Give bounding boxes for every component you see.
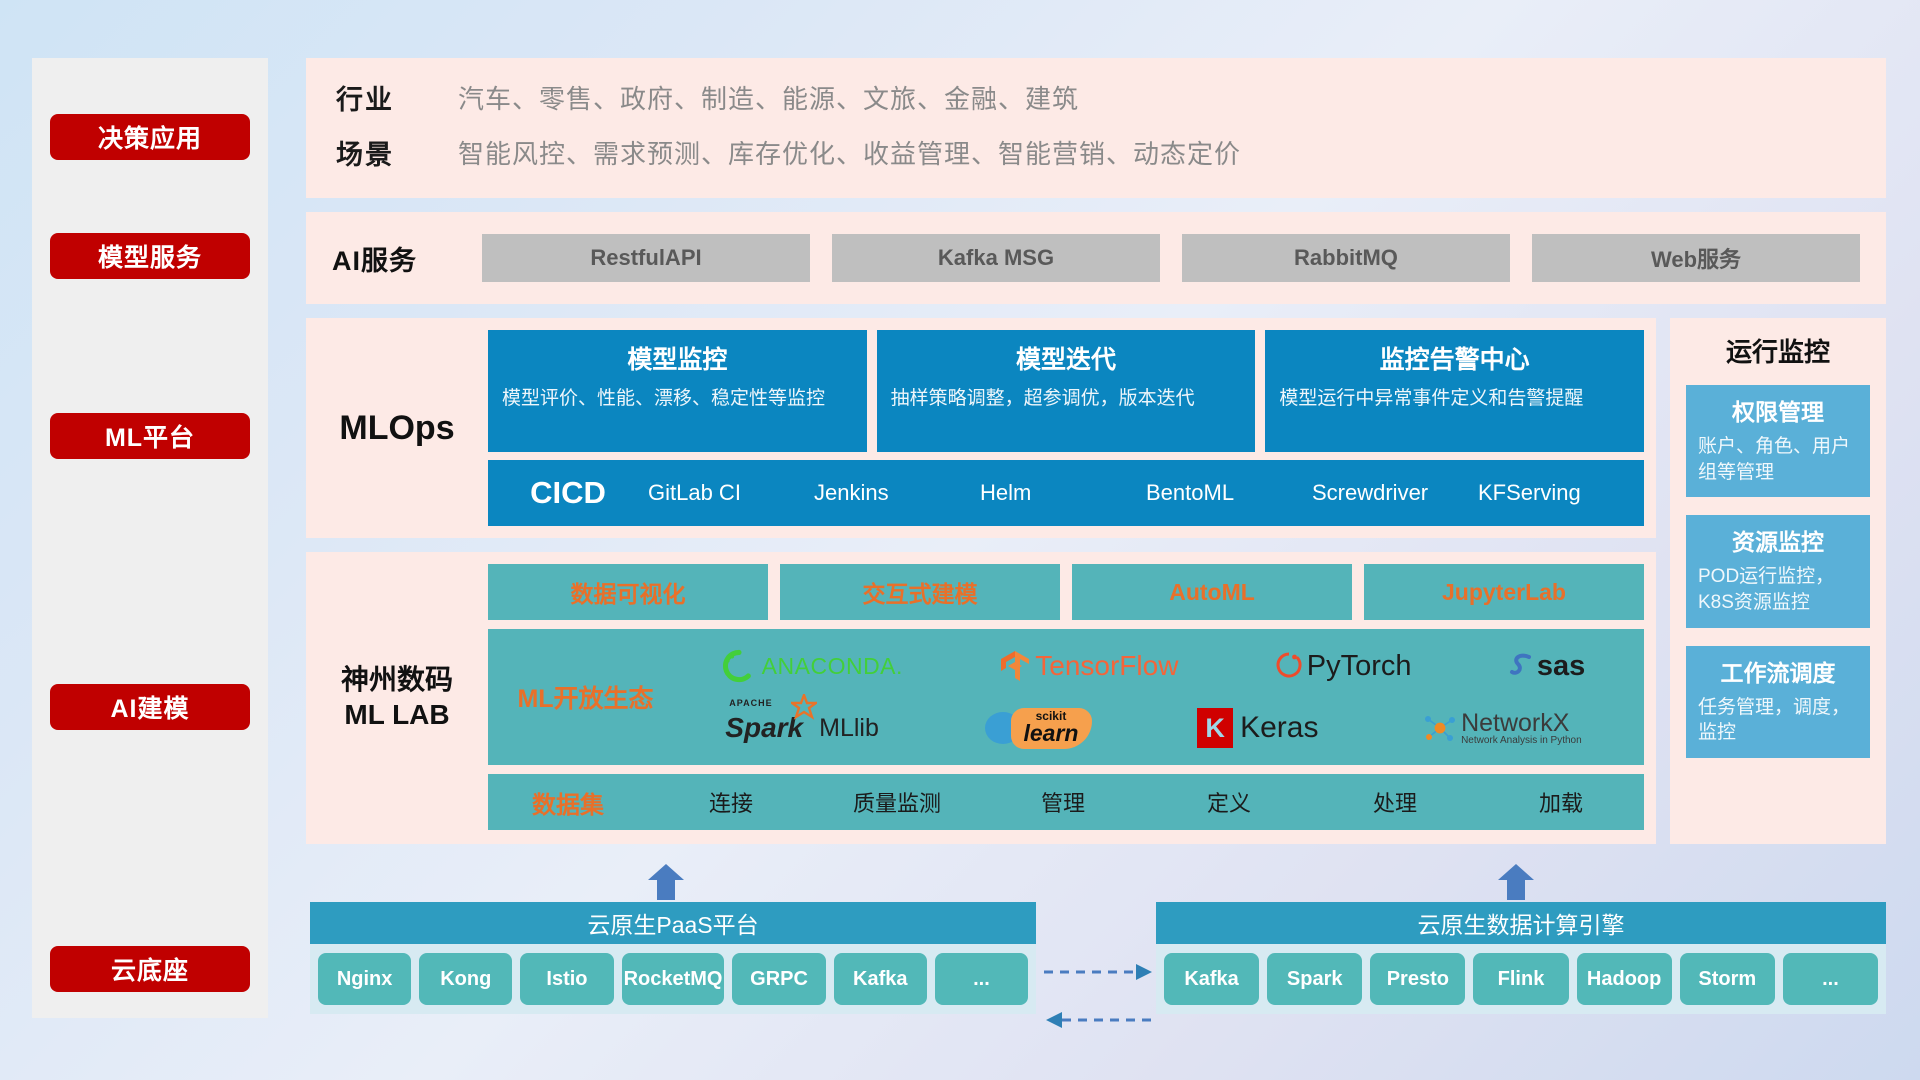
- tensorflow-icon: [1000, 649, 1030, 683]
- keras-letter: K: [1205, 713, 1225, 744]
- ai-service-title: AI服务: [332, 239, 482, 278]
- sas-icon: [1509, 651, 1535, 681]
- scenario-value: 智能风控、需求预测、库存优化、收益管理、智能营销、动态定价: [458, 134, 1241, 171]
- platform-left-stack: MLOps 模型监控 模型评价、性能、漂移、稳定性等监控 模型迭代 抽样策略调整…: [306, 318, 1656, 844]
- rail-label: 决策应用: [98, 119, 202, 155]
- card-title: 模型监控: [502, 340, 853, 376]
- cloud-native-data-engine-block: 云原生数据计算引擎 Kafka Spark Presto Flink Hadoo…: [1156, 902, 1886, 1014]
- data-engine-chips: Kafka Spark Presto Flink Hadoop Storm ..…: [1156, 944, 1886, 1014]
- rail-item-model-service[interactable]: 模型服务: [50, 233, 250, 279]
- engine-chip-storm[interactable]: Storm: [1680, 953, 1775, 1005]
- monitor-card-permission[interactable]: 权限管理 账户、角色、用户组等管理: [1686, 385, 1870, 497]
- scenario-key: 场景: [336, 133, 458, 172]
- tool-data-visualization[interactable]: 数据可视化: [488, 564, 768, 620]
- rail-item-ai-modeling[interactable]: AI建模: [50, 684, 250, 730]
- mllib-text: MLlib: [819, 714, 879, 743]
- paas-chip-kafka[interactable]: Kafka: [834, 953, 927, 1005]
- rail-label: 模型服务: [98, 238, 202, 274]
- dataset-item-connect[interactable]: 连接: [648, 786, 814, 818]
- keras-mark-icon: K: [1197, 708, 1233, 748]
- ai-service-restfulapi[interactable]: RestfulAPI: [482, 234, 810, 282]
- pytorch-icon: [1276, 650, 1302, 682]
- modeling-tools-row: 数据可视化 交互式建模 AutoML JupyterLab: [488, 564, 1644, 620]
- runtime-monitor-title: 运行监控: [1686, 332, 1870, 369]
- runtime-monitor-column: 运行监控 权限管理 账户、角色、用户组等管理 资源监控 POD运行监控，K8S资…: [1670, 318, 1886, 844]
- anaconda-wordmark: ANACONDA.: [762, 653, 903, 680]
- card-title: 工作流调度: [1698, 654, 1858, 688]
- card-title: 模型迭代: [891, 340, 1242, 376]
- paas-chip-more[interactable]: ...: [935, 953, 1028, 1005]
- card-desc: 模型评价、性能、漂移、稳定性等监控: [502, 386, 853, 412]
- paas-up-arrow-icon: [646, 864, 686, 900]
- cicd-item-kfserving[interactable]: KFServing: [1478, 480, 1644, 505]
- ai-service-items: RestfulAPI Kafka MSG RabbitMQ Web服务: [482, 234, 1860, 282]
- dataset-bar: 数据集 连接 质量监测 管理 定义 处理 加载: [488, 774, 1644, 830]
- paas-title: 云原生PaaS平台: [310, 902, 1036, 944]
- bidirectional-dashed-arrows: [1040, 952, 1158, 1042]
- keras-logo: K Keras: [1197, 708, 1318, 748]
- scikit-orange-blob: scikit learn: [1011, 708, 1092, 749]
- mlops-cards: 模型监控 模型评价、性能、漂移、稳定性等监控 模型迭代 抽样策略调整，超参调优，…: [488, 330, 1644, 452]
- dataset-item-quality-monitoring[interactable]: 质量监测: [814, 786, 980, 818]
- card-title: 权限管理: [1698, 393, 1858, 427]
- cicd-bar: CICD GitLab CI Jenkins Helm BentoML Scre…: [488, 460, 1644, 526]
- card-desc: 抽样策略调整，超参调优，版本迭代: [891, 386, 1242, 412]
- mlops-card-alert-center[interactable]: 监控告警中心 模型运行中异常事件定义和告警提醒: [1265, 330, 1644, 452]
- industry-value: 汽车、零售、政府、制造、能源、文旅、金融、建筑: [458, 79, 1079, 116]
- engine-chip-spark[interactable]: Spark: [1267, 953, 1362, 1005]
- pytorch-logo: PyTorch: [1276, 650, 1412, 683]
- layer-rail: 决策应用 模型服务 ML平台 AI建模 云底座: [32, 58, 268, 1018]
- mlops-card-model-monitoring[interactable]: 模型监控 模型评价、性能、漂移、稳定性等监控: [488, 330, 867, 452]
- spark-apache-text: APACHE: [729, 698, 772, 708]
- ecosystem-logo-row-2: APACHE Spark MLlib: [673, 697, 1634, 759]
- ai-modeling-band: 神州数码 ML LAB 数据可视化 交互式建模 AutoML JupyterLa…: [306, 552, 1656, 844]
- engine-chip-presto[interactable]: Presto: [1370, 953, 1465, 1005]
- ecosystem-label: ML开放生态: [498, 679, 673, 715]
- rail-label: ML平台: [105, 418, 195, 454]
- ecosystem-logo-row-1: ANACONDA. Te: [673, 635, 1634, 697]
- card-title: 监控告警中心: [1279, 340, 1630, 376]
- cicd-item-jenkins[interactable]: Jenkins: [814, 480, 980, 505]
- data-engine-title: 云原生数据计算引擎: [1156, 902, 1886, 944]
- ai-service-rabbitmq[interactable]: RabbitMQ: [1182, 234, 1510, 282]
- monitor-card-workflow[interactable]: 工作流调度 任务管理，调度，监控: [1686, 646, 1870, 758]
- card-title: 资源监控: [1698, 523, 1858, 557]
- spark-star-icon: [791, 694, 817, 720]
- paas-chip-istio[interactable]: Istio: [520, 953, 613, 1005]
- scikit-learn-logo: scikit learn: [983, 708, 1092, 749]
- spark-mllib-logo: APACHE Spark MLlib: [725, 712, 879, 744]
- platform-zone: MLOps 模型监控 模型评价、性能、漂移、稳定性等监控 模型迭代 抽样策略调整…: [306, 318, 1886, 844]
- cicd-item-helm[interactable]: Helm: [980, 480, 1146, 505]
- networkx-logo: NetworkX Network Analysis in Python: [1423, 711, 1582, 746]
- tool-interactive-modeling[interactable]: 交互式建模: [780, 564, 1060, 620]
- rail-item-decision-app[interactable]: 决策应用: [50, 114, 250, 160]
- tensorflow-wordmark: TensorFlow: [1035, 650, 1178, 682]
- paas-chip-grpc[interactable]: GRPC: [732, 953, 825, 1005]
- engine-chip-flink[interactable]: Flink: [1473, 953, 1568, 1005]
- keras-wordmark: Keras: [1240, 711, 1318, 745]
- sas-logo: sas: [1509, 650, 1585, 683]
- dataset-item-define[interactable]: 定义: [1146, 786, 1312, 818]
- paas-chips: Nginx Kong Istio RocketMQ GRPC Kafka ...: [310, 944, 1036, 1014]
- cloud-native-paas-block: 云原生PaaS平台 Nginx Kong Istio RocketMQ GRPC…: [310, 902, 1036, 1014]
- paas-chip-rocketmq[interactable]: RocketMQ: [622, 953, 725, 1005]
- networkx-wordmark: NetworkX: [1461, 711, 1582, 736]
- tensorflow-logo: TensorFlow: [1000, 649, 1178, 683]
- scenario-row: 场景 智能风控、需求预测、库存优化、收益管理、智能营销、动态定价: [336, 133, 1886, 172]
- learn-text: learn: [1023, 722, 1078, 745]
- cicd-title: CICD: [488, 475, 648, 511]
- cloud-base-section: 云原生PaaS平台 Nginx Kong Istio RocketMQ GRPC…: [306, 880, 1886, 1040]
- cicd-item-bentoml[interactable]: BentoML: [1146, 480, 1312, 505]
- rail-label: AI建模: [110, 689, 189, 725]
- sas-wordmark: sas: [1537, 650, 1585, 683]
- ml-lab-line2: ML LAB: [344, 697, 449, 732]
- ml-lab-line1: 神州数码: [341, 662, 453, 697]
- anaconda-icon: [722, 649, 756, 683]
- pytorch-wordmark: PyTorch: [1307, 650, 1412, 683]
- rail-label: 云底座: [111, 951, 189, 987]
- paas-chip-nginx[interactable]: Nginx: [318, 953, 411, 1005]
- engine-chip-hadoop[interactable]: Hadoop: [1577, 953, 1672, 1005]
- monitor-card-resource[interactable]: 资源监控 POD运行监控，K8S资源监控: [1686, 515, 1870, 627]
- card-desc: 模型运行中异常事件定义和告警提醒: [1279, 386, 1630, 412]
- tool-jupyterlab[interactable]: JupyterLab: [1364, 564, 1644, 620]
- cicd-item-screwdriver[interactable]: Screwdriver: [1312, 480, 1478, 505]
- mlops-band: MLOps 模型监控 模型评价、性能、漂移、稳定性等监控 模型迭代 抽样策略调整…: [306, 318, 1656, 538]
- ai-service-kafka-msg[interactable]: Kafka MSG: [832, 234, 1160, 282]
- ml-lab-label: 神州数码 ML LAB: [306, 564, 488, 830]
- dataset-item-manage[interactable]: 管理: [980, 786, 1146, 818]
- industry-row: 行业 汽车、零售、政府、制造、能源、文旅、金融、建筑: [336, 78, 1886, 117]
- ai-service-band: AI服务 RestfulAPI Kafka MSG RabbitMQ Web服务: [306, 212, 1886, 304]
- architecture-main: 行业 汽车、零售、政府、制造、能源、文旅、金融、建筑 场景 智能风控、需求预测、…: [306, 58, 1886, 844]
- networkx-tagline: Network Analysis in Python: [1461, 736, 1582, 746]
- decision-application-band: 行业 汽车、零售、政府、制造、能源、文旅、金融、建筑 场景 智能风控、需求预测、…: [306, 58, 1886, 198]
- card-desc: 任务管理，调度，监控: [1698, 695, 1858, 746]
- engine-chip-more[interactable]: ...: [1783, 953, 1878, 1005]
- industry-key: 行业: [336, 78, 458, 117]
- ml-open-ecosystem: ML开放生态: [488, 629, 1644, 765]
- networkx-icon: [1423, 711, 1457, 745]
- ai-service-web[interactable]: Web服务: [1532, 234, 1860, 282]
- mlops-label: MLOps: [306, 330, 488, 526]
- card-desc: POD运行监控，K8S资源监控: [1698, 564, 1858, 615]
- rail-item-ml-platform[interactable]: ML平台: [50, 413, 250, 459]
- engine-chip-kafka[interactable]: Kafka: [1164, 953, 1259, 1005]
- cicd-item-gitlab-ci[interactable]: GitLab CI: [648, 480, 814, 505]
- tool-automl[interactable]: AutoML: [1072, 564, 1352, 620]
- rail-item-cloud-base[interactable]: 云底座: [50, 946, 250, 992]
- dataset-title: 数据集: [488, 785, 648, 820]
- anaconda-logo: ANACONDA.: [722, 649, 903, 683]
- paas-chip-kong[interactable]: Kong: [419, 953, 512, 1005]
- card-desc: 账户、角色、用户组等管理: [1698, 434, 1858, 485]
- dataset-item-load[interactable]: 加载: [1478, 786, 1644, 818]
- mlops-card-model-iteration[interactable]: 模型迭代 抽样策略调整，超参调优，版本迭代: [877, 330, 1256, 452]
- dataset-item-process[interactable]: 处理: [1312, 786, 1478, 818]
- data-engine-up-arrow-icon: [1496, 864, 1536, 900]
